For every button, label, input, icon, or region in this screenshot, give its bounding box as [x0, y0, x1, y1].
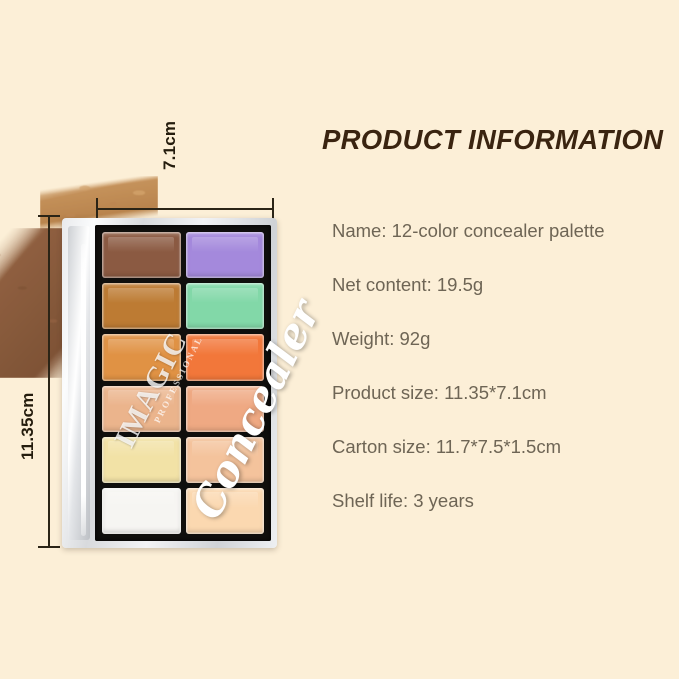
- pan-12-pale-peach: [186, 488, 265, 534]
- spec-item: Product size: 11.35*7.1cm: [332, 384, 676, 403]
- pan-8-salmon: [186, 386, 265, 432]
- width-dimension-tick-left: [96, 198, 98, 220]
- concealer-palette-case: [62, 218, 277, 548]
- case-hinge-strip: [68, 226, 90, 540]
- width-dimension-label: 7.1cm: [160, 121, 180, 170]
- pan-9-pale-yellow: [102, 437, 181, 483]
- case-hinge-gloss: [81, 244, 86, 536]
- pan-5-orange-tan: [102, 334, 181, 380]
- palette-tray: [95, 225, 271, 541]
- pan-1-dark-brown: [102, 232, 181, 278]
- width-dimension-line: [96, 208, 273, 210]
- height-dimension-tick-bottom: [38, 546, 60, 548]
- information-panel: PRODUCT INFORMATION Name: 12-color conce…: [308, 0, 679, 679]
- spec-list: Name: 12-color concealer paletteNet cont…: [332, 222, 676, 546]
- product-information-page: 7.1cm 11.35cm IMAGIC PROFESSIONAL Concea…: [0, 0, 679, 679]
- pan-10-light-peach: [186, 437, 265, 483]
- pan-6-bright-orange: [186, 334, 265, 380]
- pan-7-peach-tan: [102, 386, 181, 432]
- spec-item: Carton size: 11.7*7.5*1.5cm: [332, 438, 676, 457]
- pan-11-white: [102, 488, 181, 534]
- page-title: PRODUCT INFORMATION: [322, 124, 663, 156]
- spec-item: Weight: 92g: [332, 330, 676, 349]
- height-dimension-label: 11.35cm: [18, 392, 38, 460]
- pan-4-mint-green: [186, 283, 265, 329]
- height-dimension-tick-top: [38, 215, 60, 217]
- pan-2-lavender: [186, 232, 265, 278]
- pan-3-amber: [102, 283, 181, 329]
- width-dimension-tick-right: [272, 198, 274, 220]
- spec-item: Net content: 19.5g: [332, 276, 676, 295]
- product-figure: 7.1cm 11.35cm IMAGIC PROFESSIONAL Concea…: [0, 0, 300, 679]
- spec-item: Name: 12-color concealer palette: [332, 222, 676, 241]
- spec-item: Shelf life: 3 years: [332, 492, 676, 511]
- concealer-pan-grid: [102, 232, 264, 534]
- height-dimension-line: [48, 216, 50, 547]
